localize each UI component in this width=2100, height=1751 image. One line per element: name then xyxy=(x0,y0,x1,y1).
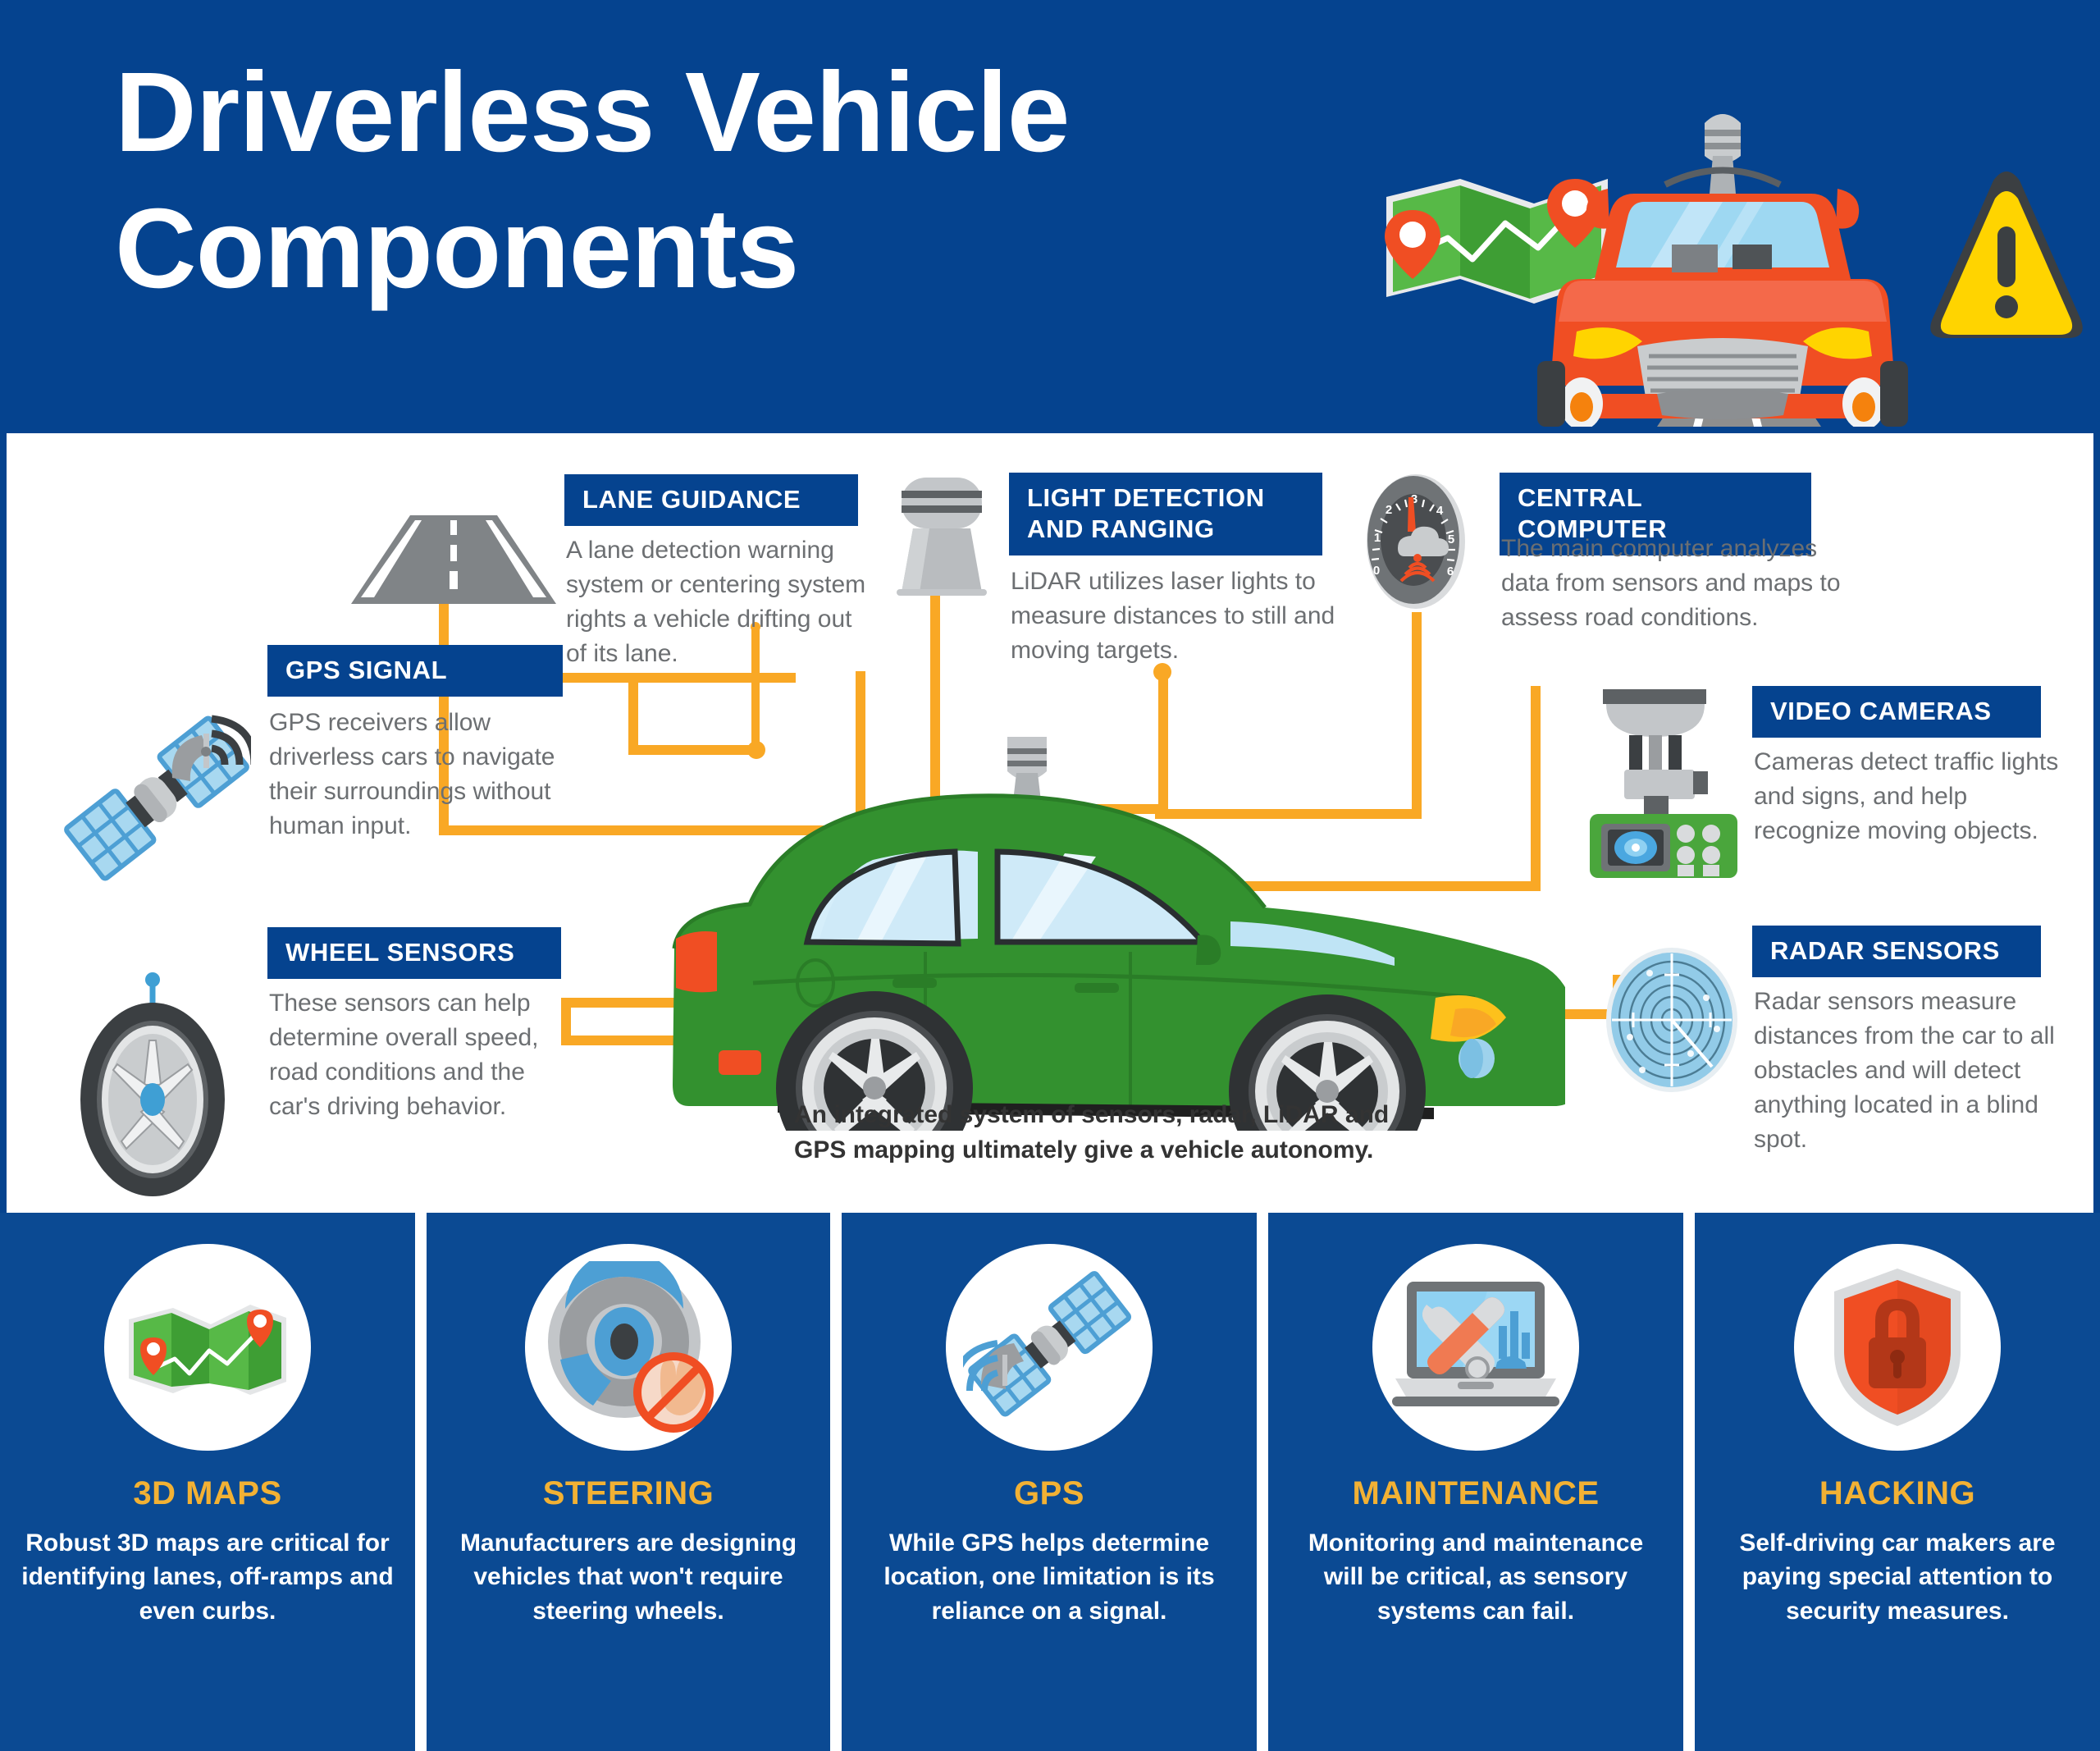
desc-gps-signal: GPS receivers allow driverless cars to n… xyxy=(269,706,591,843)
card-divider xyxy=(1683,1213,1695,1751)
tire-wheel-icon xyxy=(62,958,243,1205)
label-lidar-text: LIGHT DETECTION AND RANGING xyxy=(1027,483,1265,543)
svg-text:6: 6 xyxy=(1447,565,1454,578)
card-hacking[interactable]: HACKING Self-driving car makers are payi… xyxy=(1695,1213,2100,1751)
folded-map-icon xyxy=(126,1290,290,1405)
card-icon-gps xyxy=(946,1244,1153,1451)
diagram-caption: An integrated system of sensors, radar, … xyxy=(794,1098,1417,1168)
green-car-illustration xyxy=(655,737,1565,1135)
card-icon-steering xyxy=(525,1244,732,1451)
desc-wheel-sensors: These sensors can help determine overall… xyxy=(269,986,574,1124)
card-divider xyxy=(415,1213,427,1751)
label-lidar: LIGHT DETECTION AND RANGING xyxy=(1009,473,1322,555)
card-icon-maintenance xyxy=(1372,1244,1579,1451)
steering-wheel-no-hand-icon xyxy=(542,1261,714,1433)
svg-text:4: 4 xyxy=(1436,504,1444,518)
card-3d-maps[interactable]: 3D MAPS Robust 3D maps are critical for … xyxy=(0,1213,415,1751)
label-wheel-sensors: WHEEL SENSORS xyxy=(267,927,561,979)
label-lane-guidance: LANE GUIDANCE xyxy=(564,474,858,526)
gps-icon-wrap xyxy=(62,704,251,897)
connector-gps-v xyxy=(628,673,638,752)
central-computer-icon-wrap: 0 1 2 3 4 5 6 xyxy=(1362,468,1468,619)
card-title-maintenance: MAINTENANCE xyxy=(1268,1475,1683,1512)
svg-text:2: 2 xyxy=(1386,503,1392,517)
desc-lidar: LiDAR utilizes laser lights to measure d… xyxy=(1011,565,1339,668)
title-line-1: Driverless Vehicle xyxy=(115,49,1070,176)
desc-lane-guidance: A lane detection warning system or cente… xyxy=(566,533,871,671)
satellite-signal-icon xyxy=(963,1261,1135,1433)
card-text-gps: While GPS helps determine location, one … xyxy=(863,1526,1235,1628)
page-title: Driverless Vehicle Components xyxy=(115,56,1427,305)
lidar-icon-wrap xyxy=(897,476,987,603)
label-video-cameras: VIDEO CAMERAS xyxy=(1752,686,2041,738)
radar-scope-icon xyxy=(1594,942,1750,1098)
card-title-gps: GPS xyxy=(842,1475,1257,1512)
diagram-panel: LANE GUIDANCE A lane detection warning s… xyxy=(7,433,2093,1213)
card-text-hacking: Self-driving car makers are paying speci… xyxy=(1716,1526,2079,1628)
satellite-icon xyxy=(62,704,251,893)
video-camera-icon-wrap xyxy=(1590,689,1737,882)
card-icon-hacking xyxy=(1794,1244,2001,1451)
card-text-maintenance: Monitoring and maintenance will be criti… xyxy=(1290,1526,1662,1628)
connector-gps-h1 xyxy=(562,673,796,683)
card-divider xyxy=(830,1213,842,1751)
gauge-cloud-icon: 0 1 2 3 4 5 6 xyxy=(1362,468,1468,615)
card-icon-3d-maps xyxy=(104,1244,311,1451)
card-text-3d-maps: Robust 3D maps are critical for identify… xyxy=(21,1526,394,1628)
svg-text:0: 0 xyxy=(1373,564,1380,578)
card-title-steering: STEERING xyxy=(427,1475,830,1512)
wheel-icon-wrap xyxy=(62,958,243,1209)
svg-text:1: 1 xyxy=(1374,531,1381,545)
svg-text:5: 5 xyxy=(1448,533,1454,546)
desc-central-computer: The main computer analyzes data from sen… xyxy=(1501,532,1846,635)
card-gps[interactable]: GPS While GPS helps determine location, … xyxy=(842,1213,1257,1751)
desc-video-cameras: Cameras detect traffic lights and signs,… xyxy=(1754,745,2066,848)
card-steering[interactable]: STEERING Manufacturers are designing veh… xyxy=(427,1213,830,1751)
header-illustration xyxy=(1362,33,2084,427)
infographic-root: Driverless Vehicle Components xyxy=(0,0,2100,1751)
radar-icon-wrap xyxy=(1594,942,1750,1102)
no-hand-icon xyxy=(637,1356,710,1429)
card-divider xyxy=(1257,1213,1268,1751)
card-title-3d-maps: 3D MAPS xyxy=(0,1475,415,1512)
laptop-tools-icon xyxy=(1389,1273,1563,1421)
dashcam-icon xyxy=(1590,689,1737,878)
bottom-card-row: 3D MAPS Robust 3D maps are critical for … xyxy=(0,1213,2100,1751)
card-maintenance[interactable]: MAINTENANCE Monitoring and maintenance w… xyxy=(1268,1213,1683,1751)
warning-triangle-icon xyxy=(1930,171,2083,338)
label-radar-sensors: RADAR SENSORS xyxy=(1752,926,2041,977)
label-gps-signal: GPS SIGNAL xyxy=(267,645,563,697)
lane-guidance-icon-wrap xyxy=(351,515,556,610)
card-title-hacking: HACKING xyxy=(1695,1475,2100,1512)
lidar-sensor-icon xyxy=(897,476,987,599)
road-lane-icon xyxy=(351,515,556,606)
desc-radar-sensors: Radar sensors measure distances from the… xyxy=(1754,985,2075,1157)
card-text-steering: Manufacturers are designing vehicles tha… xyxy=(448,1526,809,1628)
shield-lock-icon xyxy=(1828,1265,1967,1429)
header-banner: Driverless Vehicle Components xyxy=(0,0,2100,433)
title-line-2: Components xyxy=(115,192,1427,305)
